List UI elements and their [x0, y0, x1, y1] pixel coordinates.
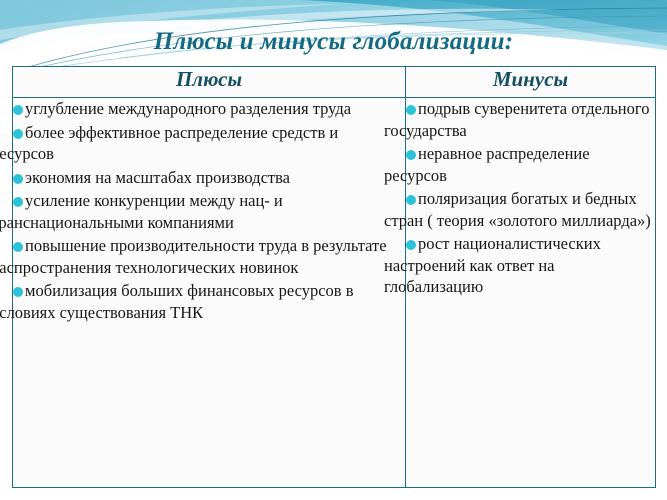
list-item: углубление международного разделения тру…: [0, 98, 405, 120]
bullet-dot-icon: [13, 197, 23, 207]
plus-item-text: повышение производительности труда в рез…: [0, 235, 405, 278]
table-header-row: Плюсы Минусы: [13, 67, 656, 98]
cell-plus-list: углубление международного разделения тру…: [13, 98, 406, 488]
bullet-dot-icon: [13, 242, 23, 252]
bullet-dot-icon: [406, 195, 416, 205]
minus-item-text: неравное распределение ресурсов: [384, 143, 655, 186]
bullet-dot-icon: [406, 240, 416, 250]
plus-item-text: углубление международного разделения тру…: [0, 98, 405, 120]
column-header-plus: Плюсы: [13, 67, 406, 98]
list-item: поляризация богатых и бедных стран ( тео…: [384, 188, 655, 231]
list-item: рост националистических настроений как о…: [384, 233, 655, 298]
plus-item-text: усиление конкуренции между нац- и трансн…: [0, 190, 405, 233]
page-title: Плюсы и минусы глобализации:: [0, 27, 667, 57]
table-row: углубление международного разделения тру…: [13, 98, 656, 488]
list-item: повышение производительности труда в рез…: [0, 235, 405, 278]
bullet-dot-icon: [406, 105, 416, 115]
list-item: усиление конкуренции между нац- и трансн…: [0, 190, 405, 233]
bullet-dot-icon: [13, 105, 23, 115]
list-item: подрыв суверенитета отдельного государст…: [384, 98, 655, 141]
bullet-dot-icon: [13, 174, 23, 184]
plus-item-text: мобилизация больших финансовых ресурсов …: [0, 280, 405, 323]
pros-cons-table-container: Плюсы Минусы углубление международного р…: [12, 66, 655, 488]
minus-item-text: подрыв суверенитета отдельного государст…: [384, 98, 655, 141]
list-item: экономия на масштабах производства: [0, 167, 405, 189]
list-item: мобилизация больших финансовых ресурсов …: [0, 280, 405, 323]
plus-item-text: более эффективное распределение средств …: [0, 122, 405, 165]
plus-item-text: экономия на масштабах производства: [0, 167, 405, 189]
table-head: Плюсы Минусы: [13, 67, 656, 98]
minus-bullet-list: подрыв суверенитета отдельного государст…: [406, 98, 655, 298]
column-header-minus: Минусы: [406, 67, 656, 98]
plus-bullet-list: углубление международного разделения тру…: [13, 98, 405, 323]
pros-cons-table: Плюсы Минусы углубление международного р…: [12, 66, 656, 488]
table-body: углубление международного разделения тру…: [13, 98, 656, 488]
bullet-dot-icon: [13, 129, 23, 139]
list-item: неравное распределение ресурсов: [384, 143, 655, 186]
slide-bottom-edge: [0, 494, 667, 500]
minus-item-text: поляризация богатых и бедных стран ( тео…: [384, 188, 655, 231]
slide-canvas: Плюсы и минусы глобализации: Плюсы Минус…: [0, 0, 667, 500]
bullet-dot-icon: [406, 150, 416, 160]
list-item: более эффективное распределение средств …: [0, 122, 405, 165]
cell-minus-list: подрыв суверенитета отдельного государст…: [406, 98, 656, 488]
bullet-dot-icon: [13, 287, 23, 297]
minus-item-text: рост националистических настроений как о…: [384, 233, 655, 298]
